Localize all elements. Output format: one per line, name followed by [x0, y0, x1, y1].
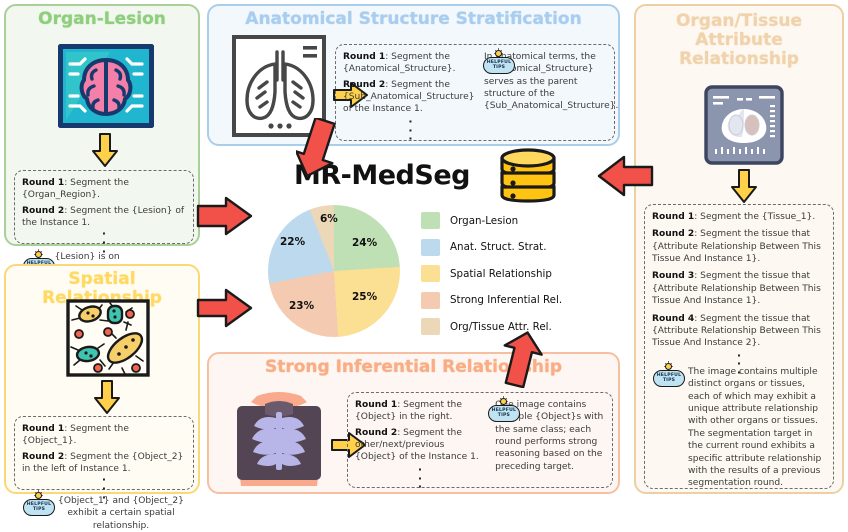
ellipsis-vertical: ···	[343, 118, 478, 144]
round-label: Round 2	[22, 452, 64, 462]
legend-item: Strong Inferential Rel.	[421, 292, 621, 309]
round-item: Round 3: Segment the tissue that {Attrib…	[652, 270, 826, 307]
panel-title-anatomical: Anatomical Structure Stratification	[209, 6, 618, 29]
ellipsis-vertical: ···	[355, 466, 485, 492]
pie-label-strong: 23%	[289, 300, 314, 312]
pie-label-organ-lesion: 24%	[352, 237, 377, 249]
panel-attribute-relationship: Organ/Tissue Attribute Relationship	[634, 4, 844, 494]
red-arrow-anatomical	[296, 118, 340, 180]
database-icon	[497, 147, 559, 205]
legend-label: Strong Inferential Rel.	[450, 294, 562, 306]
brain-mri-icon	[58, 44, 154, 128]
down-arrow-icon	[94, 380, 120, 414]
helpful-tips-icon: HELPFUL TIPS	[487, 401, 493, 423]
round-item: Round 1: Segment the {Object_1}.	[22, 423, 186, 448]
round-label: Round 1	[343, 52, 385, 62]
tip-text: {Object_1} and {Object_2} exhibit a cert…	[56, 495, 186, 532]
chart-legend: Organ-Lesion Anat. Struct. Strat. Spatia…	[421, 212, 621, 345]
round-item: Round 1: Segment the {Object} in the rig…	[355, 399, 485, 424]
round-item: Round 2: Segment the {Sub_Anatomical_Str…	[343, 79, 478, 116]
red-arrow-strong	[500, 330, 544, 388]
panel-title-attribute: Organ/Tissue Attribute Relationship	[636, 6, 842, 69]
helpful-tips-label: HELPFUL TIPS	[23, 499, 55, 516]
pie-label-anatomical: 22%	[280, 236, 305, 248]
legend-swatch	[421, 292, 440, 309]
round-item: Round 1: Segment the {Tissue_1}.	[652, 211, 826, 223]
round-item: Round 2: Segment the other/next/previous…	[355, 427, 485, 464]
panel-spatial-relationship: Spatial Relationship	[4, 264, 200, 494]
helpful-tips-label: HELPFUL TIPS	[653, 370, 685, 387]
rounds-box-spatial: Round 1: Segment the {Object_1}. Round 2…	[14, 416, 194, 490]
helpful-tips-label: HELPFUL TIPS	[483, 57, 515, 74]
helpful-tips-icon: HELPFUL TIPS	[22, 495, 56, 517]
panel-title-strong: Strong Inferential Relationship	[209, 354, 618, 377]
legend-label: Spatial Relationship	[450, 268, 552, 280]
round-item: Round 4: Segment the tissue that {Attrib…	[652, 313, 826, 350]
legend-swatch	[421, 318, 440, 335]
legend-item: Anat. Struct. Strat.	[421, 239, 621, 256]
pie-chart: 24% 25% 23% 22% 6%	[268, 205, 400, 337]
pie-label-attribute: 6%	[320, 213, 338, 225]
round-item: Round 2: Segment the {Object_2} in the l…	[22, 451, 186, 476]
round-label: Round 2	[355, 428, 397, 438]
rounds-box-strong: Round 1: Segment the {Object} in the rig…	[347, 392, 613, 488]
red-arrow-spatial	[196, 288, 254, 328]
pie-label-spatial: 25%	[352, 291, 377, 303]
red-arrow-attribute	[596, 155, 654, 197]
rounds-box-anatomical: Round 1: Segment the {Anatomical_Structu…	[335, 44, 615, 141]
legend-swatch	[421, 212, 440, 229]
round-label: Round 2	[652, 229, 694, 239]
rounds-box-organ-lesion: Round 1: Segment the {Organ_Region}. Rou…	[14, 170, 194, 244]
round-text: Segment the {Tissue_1}.	[700, 212, 815, 222]
legend-swatch	[421, 265, 440, 282]
round-label: Round 2	[343, 80, 385, 90]
round-label: Round 2	[22, 206, 64, 216]
legend-label: Anat. Struct. Strat.	[450, 241, 546, 253]
round-label: Round 1	[355, 400, 397, 410]
round-label: Round 1	[22, 178, 64, 188]
round-label: Round 1	[22, 424, 64, 434]
helpful-tips-label: HELPFUL TIPS	[488, 405, 520, 422]
down-arrow-icon	[92, 133, 118, 167]
bacteria-microscopy-icon	[64, 298, 152, 378]
kidney-scan-icon	[704, 85, 784, 165]
round-item: Round 2: Segment the tissue that {Attrib…	[652, 228, 826, 265]
panel-organ-lesion: Organ-Lesion	[4, 4, 200, 246]
helpful-tips-icon: HELPFUL TIPS	[652, 366, 686, 388]
panel-title-organ-lesion: Organ-Lesion	[6, 6, 198, 29]
ribcage-xray-icon	[227, 386, 331, 490]
round-label: Round 1	[652, 212, 694, 222]
legend-item: Spatial Relationship	[421, 265, 621, 282]
round-item: Round 1: Segment the {Anatomical_Structu…	[343, 51, 478, 76]
legend-swatch	[421, 239, 440, 256]
round-item: Round 1: Segment the {Organ_Region}.	[22, 177, 186, 202]
round-label: Round 3	[652, 271, 694, 281]
tip-text: The image contains multiple distinct org…	[688, 366, 826, 490]
panel-anatomical-structure: Anatomical Structure Stratification Roun…	[207, 4, 620, 146]
round-item: Round 2: Segment the {Lesion} of the Ins…	[22, 205, 186, 230]
rounds-box-attribute: Round 1: Segment the {Tissue_1}. Round 2…	[644, 204, 834, 489]
panel-strong-inferential: Strong Inferential Relationship	[207, 352, 620, 494]
red-arrow-organ-lesion	[196, 196, 254, 236]
legend-label: Organ-Lesion	[450, 215, 518, 227]
down-arrow-icon	[731, 169, 757, 203]
legend-item: Organ-Lesion	[421, 212, 621, 229]
round-label: Round 4	[652, 314, 694, 324]
